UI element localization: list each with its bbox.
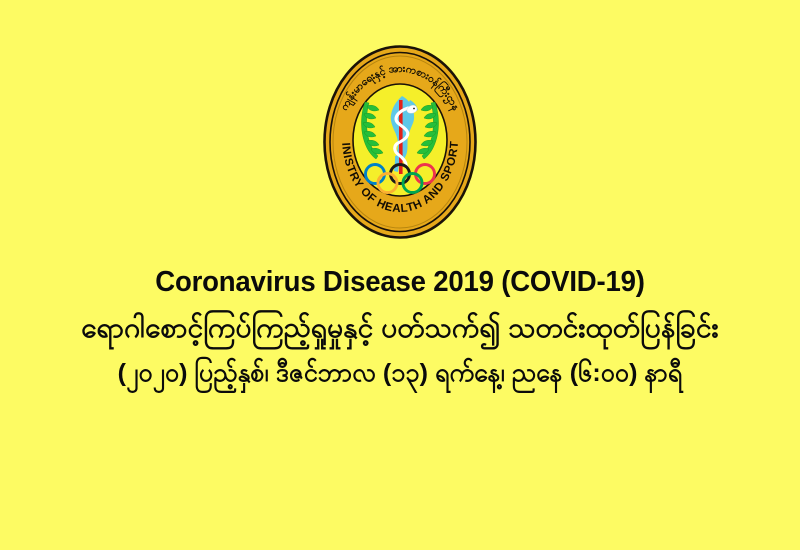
- announcement-text-block: Coronavirus Disease 2019 (COVID-19) ရောဂ…: [0, 268, 800, 386]
- ministry-emblem: ကျန်းမာရေးနှင့် အားကစားဝန်ကြီးဌာန MINIST…: [322, 44, 478, 240]
- announcement-datetime-burmese: (၂၀၂၀) ပြည့်နှစ်၊ ဒီဇင်ဘာလ (၁၃) ရက်နေ့၊ …: [0, 361, 800, 386]
- page-title-english: Coronavirus Disease 2019 (COVID-19): [20, 268, 780, 297]
- press-release-poster: ကျန်းမာရေးနှင့် အားကစားဝန်ကြီးဌာန MINIST…: [0, 0, 800, 550]
- page-title-burmese: ရောဂါစောင့်ကြပ်ကြည့်ရှုမှုနှင့် ပတ်သက်၍ …: [0, 314, 800, 342]
